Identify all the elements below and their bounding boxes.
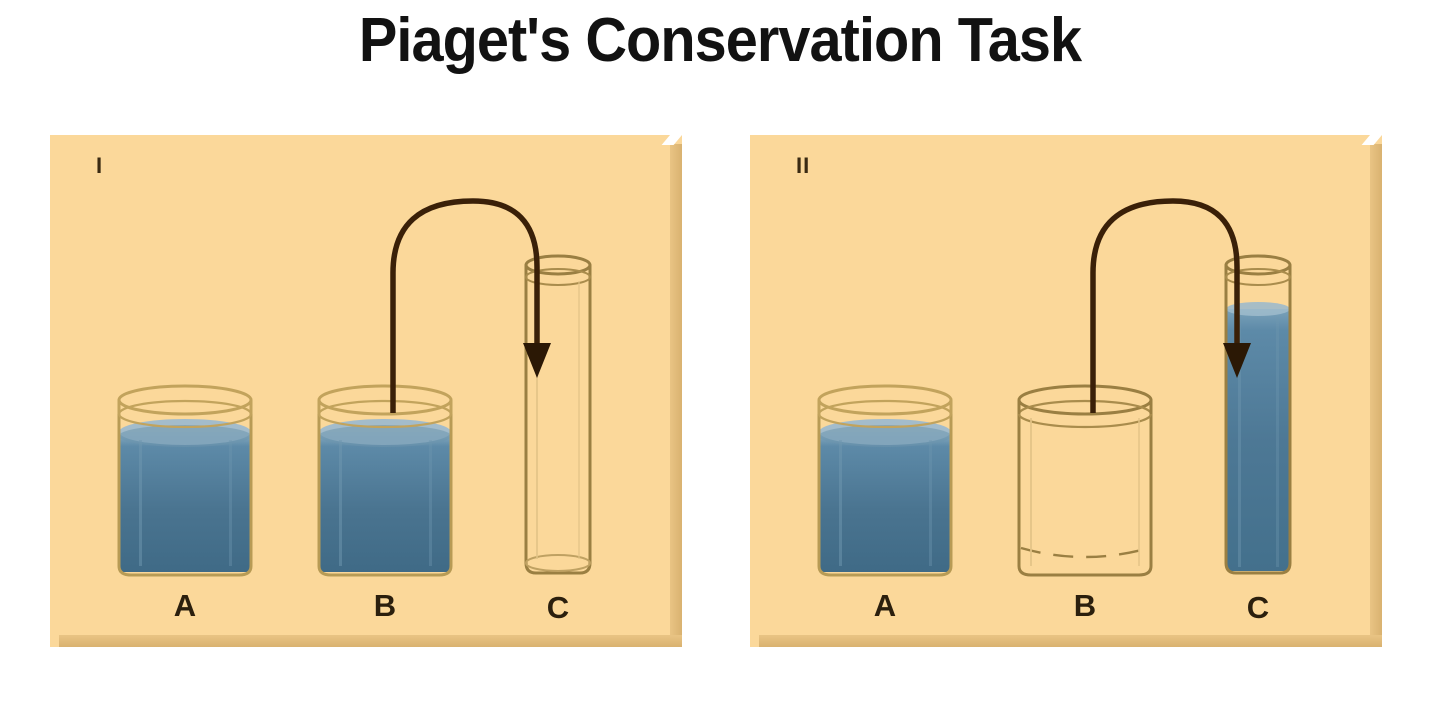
- panel-stage-one: I: [50, 135, 682, 647]
- beaker-b-one: [305, 370, 465, 585]
- vessel-group-b-one: B: [305, 370, 465, 630]
- vessel-label-a-two: A: [805, 588, 965, 624]
- vessel-label-b-two: B: [1005, 588, 1165, 624]
- cylinder-c-two: [1198, 247, 1318, 587]
- beaker-a-two: [805, 370, 965, 585]
- panel-bevel-right: [1370, 144, 1382, 647]
- vessel-label-c-two: C: [1198, 590, 1318, 626]
- panel-bevel-bottom: [759, 635, 1382, 647]
- vessel-group-c-two: C: [1198, 247, 1318, 632]
- panel-numeral-two: II: [796, 153, 810, 179]
- vessel-label-a-one: A: [105, 588, 265, 624]
- vessel-group-a-one: A: [105, 370, 265, 630]
- vessel-group-b-two: B: [1005, 370, 1165, 630]
- vessel-group-c-one: C: [498, 247, 618, 632]
- cylinder-c-one: [498, 247, 618, 587]
- vessel-group-a-two: A: [805, 370, 965, 630]
- vessel-label-c-one: C: [498, 590, 618, 626]
- beaker-a-one: [105, 370, 265, 585]
- panel-bevel-bottom: [59, 635, 682, 647]
- page-title: Piaget's Conservation Task: [50, 8, 1389, 73]
- panel-stage-two: II: [750, 135, 1382, 647]
- vessel-label-b-one: B: [305, 588, 465, 624]
- beaker-b-two: [1005, 370, 1165, 585]
- panel-numeral-one: I: [96, 153, 103, 179]
- panel-bevel-right: [670, 144, 682, 647]
